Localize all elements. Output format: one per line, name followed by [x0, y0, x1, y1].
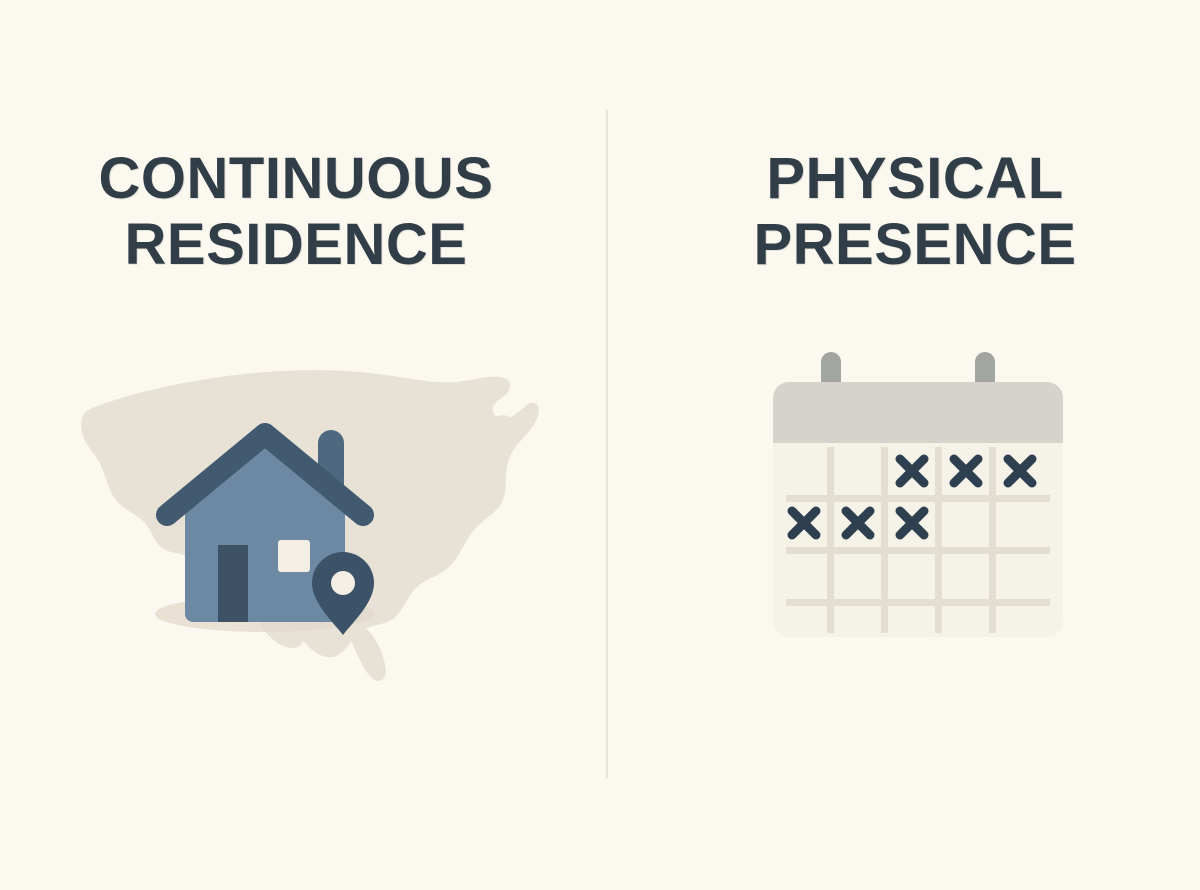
page-title-continuous-residence: CONTINUOUS RESIDENCE [0, 146, 606, 278]
calendar-header-band [773, 382, 1063, 443]
title-line-1: CONTINUOUS [0, 146, 592, 212]
illustration-calendar-with-x-marks [768, 340, 1088, 690]
house-window [278, 540, 310, 572]
house-door [218, 545, 248, 622]
title-line-1: PHYSICAL [630, 146, 1200, 212]
infographic-canvas: CONTINUOUS RESIDENCE [0, 0, 1200, 890]
title-line-2: PRESENCE [630, 212, 1200, 278]
panel-physical-presence: PHYSICAL PRESENCE [608, 0, 1200, 890]
illustration-house-on-usa-map [60, 352, 550, 692]
title-line-2: RESIDENCE [0, 212, 592, 278]
panel-continuous-residence: CONTINUOUS RESIDENCE [0, 0, 606, 890]
page-title-physical-presence: PHYSICAL PRESENCE [608, 146, 1200, 278]
